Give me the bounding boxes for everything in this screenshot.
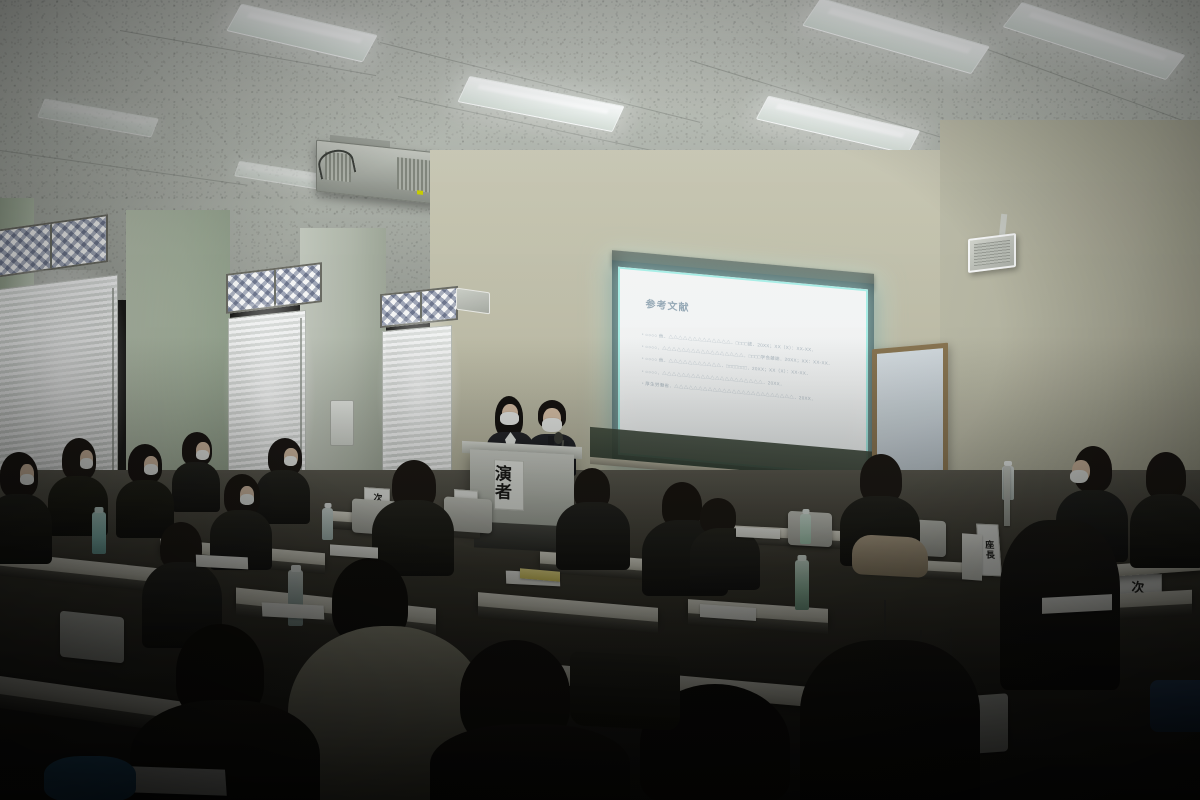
audience-member-body xyxy=(0,494,52,564)
chairperson-card-text: 座長 xyxy=(982,540,996,560)
audience-member-mask xyxy=(196,450,209,460)
podium-sign-presenter: 演者 xyxy=(494,459,524,511)
audience-member-mask xyxy=(80,458,93,469)
blind-cord[interactable] xyxy=(112,288,114,488)
water-bottle[interactable] xyxy=(322,508,333,540)
audience-member-mask xyxy=(240,494,254,505)
window-mullion xyxy=(274,270,276,306)
wall-speaker-right xyxy=(968,233,1016,273)
audience-member-body xyxy=(172,462,220,512)
blue-bag-item[interactable] xyxy=(44,756,136,800)
microphone-icon[interactable] xyxy=(554,432,563,444)
window-mullion xyxy=(420,292,422,322)
bottle-cap xyxy=(798,555,807,561)
audience-member-body xyxy=(1130,494,1200,568)
audience-member-body xyxy=(800,640,980,800)
audience-member-mask xyxy=(20,474,34,485)
water-bottle[interactable] xyxy=(92,512,106,554)
bag[interactable] xyxy=(1150,680,1200,732)
sanitizer-bottle[interactable] xyxy=(962,533,982,580)
sanitizer-stand-pole xyxy=(1004,466,1010,526)
slide-body: ・○○○○ 他．△△△△△△△△△△△△△．□□□□誌．20XX；XX（X）：X… xyxy=(641,331,851,406)
audience-member-body xyxy=(556,502,630,570)
audience-member-hair xyxy=(1146,452,1186,500)
slide-title: 参考文献 xyxy=(646,295,690,314)
chair[interactable] xyxy=(60,611,124,664)
podium-sign-text: 演者 xyxy=(495,466,523,503)
projector-vent-icon xyxy=(397,157,431,193)
bag[interactable] xyxy=(852,534,928,578)
wall-speaker-left xyxy=(456,288,490,315)
handout-paper[interactable] xyxy=(129,766,227,795)
audience-member-body xyxy=(430,724,630,800)
classroom-presentation-scene: 参考文献 ・○○○○ 他．△△△△△△△△△△△△△．□□□□誌．20XX；XX… xyxy=(0,0,1200,800)
audience-member-body xyxy=(256,470,310,524)
wall-control-panel[interactable] xyxy=(330,400,354,446)
bottle-cap xyxy=(95,507,104,513)
window-mullion xyxy=(50,224,52,268)
speaker-grille-icon xyxy=(974,240,1010,266)
chairperson-mask xyxy=(1070,470,1088,483)
bottle-cap xyxy=(802,509,809,514)
water-bottle[interactable] xyxy=(795,560,809,610)
projector-led-icon xyxy=(417,190,423,195)
audience-member-mask xyxy=(284,456,297,466)
presenter-b-mask xyxy=(542,418,562,432)
audience-member-mask xyxy=(144,464,158,475)
water-bottle[interactable] xyxy=(800,514,811,544)
presenter-a-mask xyxy=(500,412,519,425)
patterned-glass xyxy=(382,288,456,326)
bottle-cap xyxy=(324,503,331,508)
bag[interactable] xyxy=(570,651,680,731)
bottle-cap xyxy=(291,565,301,572)
